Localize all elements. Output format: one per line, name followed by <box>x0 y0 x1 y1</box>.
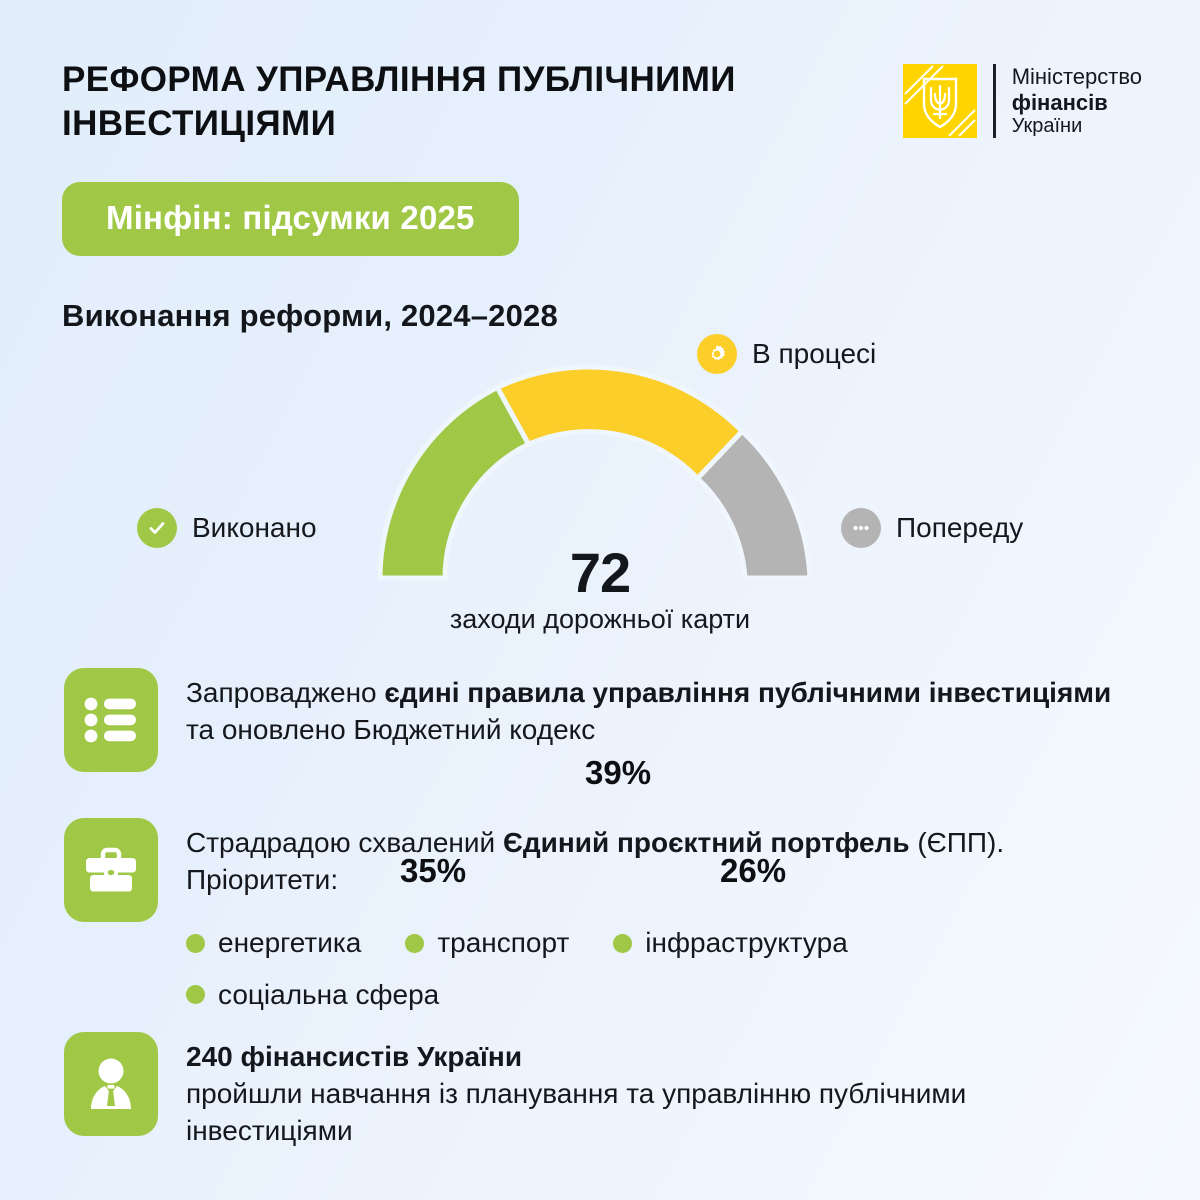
gear-icon <box>697 334 737 374</box>
ellipsis-icon <box>841 508 881 548</box>
content-block-rules-text: Запроваджено єдині правила управління пу… <box>186 668 1116 748</box>
content-block-training: 240 фінансистів України пройшли навчання… <box>64 1032 1116 1150</box>
priority-item: енергетика <box>186 924 361 961</box>
legend-label-done: Виконано <box>192 512 317 544</box>
gauge-center-caption: заходи дорожньої карти <box>0 604 1200 635</box>
list-icon <box>64 668 158 772</box>
priority-item: транспорт <box>405 924 569 961</box>
bullet-dot-icon <box>186 985 205 1004</box>
bullet-dot-icon <box>186 934 205 953</box>
priority-label: енергетика <box>218 924 361 961</box>
ministry-of-finance-logo: Міністерство фінансів України <box>903 64 1142 139</box>
portfolio-text-part-2: Єдиний проєктний портфель <box>503 827 910 858</box>
logo-text: Міністерство фінансів України <box>1012 64 1142 139</box>
results-badge: Мінфін: підсумки 2025 <box>62 182 519 256</box>
gauge-center-value: 72 <box>0 540 1200 605</box>
content-block-portfolio: Страдрадою схвалений Єдиний проєктний по… <box>64 818 1116 1013</box>
page-title: РЕФОРМА УПРАВЛІННЯ ПУБЛІЧНИМИ ІНВЕСТИЦІЯ… <box>62 58 822 146</box>
ukraine-trident-icon <box>903 64 977 138</box>
section-title: Виконання реформи, 2024–2028 <box>62 298 558 334</box>
person-icon <box>64 1032 158 1136</box>
priority-label: інфраструктура <box>645 924 847 961</box>
priority-label: соціальна сфера <box>218 976 439 1013</box>
check-icon <box>137 508 177 548</box>
rules-text-part-3: та оновлено Бюджетний кодекс <box>186 714 595 745</box>
priorities-list: енергетика транспорт інфраструктура соці… <box>186 924 1066 1012</box>
priority-item: соціальна сфера <box>186 976 439 1013</box>
legend-label-ahead: Попереду <box>896 512 1023 544</box>
rules-text-part-2: єдині правила управління публічними інве… <box>384 677 1111 708</box>
training-lead: 240 фінансистів України <box>186 1038 1116 1075</box>
training-text: пройшли навчання із планування та управл… <box>186 1078 966 1146</box>
logo-line-2: фінансів <box>1012 90 1142 116</box>
portfolio-text-part-1: Страдрадою схвалений <box>186 827 503 858</box>
content-block-portfolio-text: Страдрадою схвалений Єдиний проєктний по… <box>186 818 1116 1013</box>
bullet-dot-icon <box>405 934 424 953</box>
page-header: РЕФОРМА УПРАВЛІННЯ ПУБЛІЧНИМИ ІНВЕСТИЦІЯ… <box>62 58 1142 146</box>
logo-line-1: Міністерство <box>1012 64 1142 90</box>
content-block-training-text: 240 фінансистів України пройшли навчання… <box>186 1032 1116 1150</box>
logo-line-3: України <box>1012 115 1142 138</box>
legend-item-in-progress: В процесі <box>697 334 876 374</box>
priority-label: транспорт <box>437 924 569 961</box>
rules-text-part-1: Запроваджено <box>186 677 384 708</box>
legend-label-in-progress: В процесі <box>752 338 876 370</box>
legend-item-ahead: Попереду <box>841 508 1023 548</box>
briefcase-icon <box>64 818 158 922</box>
content-block-rules: Запроваджено єдині правила управління пу… <box>64 668 1116 772</box>
bullet-dot-icon <box>613 934 632 953</box>
priority-item: інфраструктура <box>613 924 847 961</box>
legend-item-done: Виконано <box>137 508 317 548</box>
logo-divider <box>993 64 996 138</box>
gauge-segment-in-progress <box>497 367 742 478</box>
